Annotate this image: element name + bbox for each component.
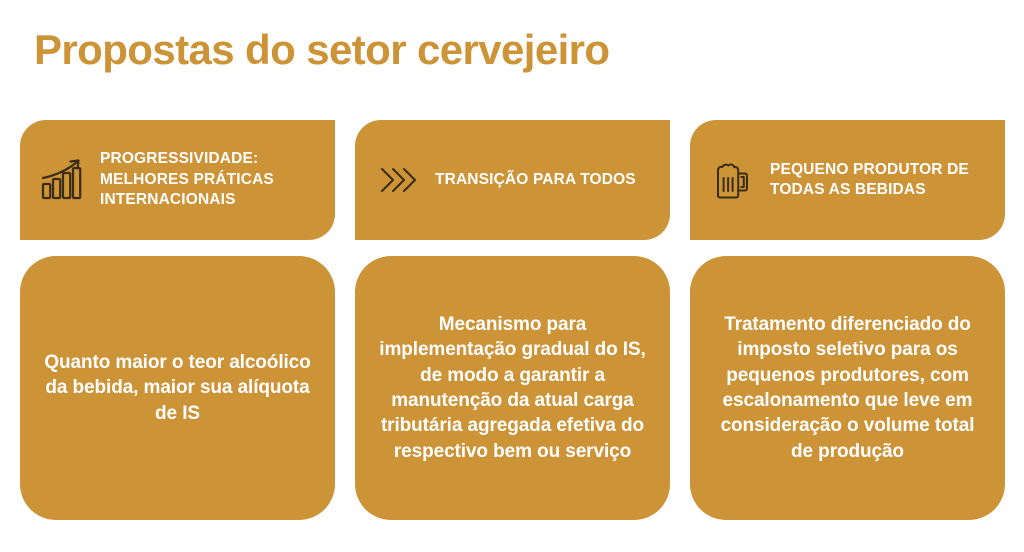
proposal-body-card-1[interactable]: Quanto maior o teor alcoólico da bebida,…	[20, 256, 335, 520]
proposal-body-card-2[interactable]: Mecanismo para implementação gradual do …	[355, 256, 670, 520]
proposal-column-2: TRANSIÇÃO PARA TODOS Mecanismo para impl…	[355, 120, 670, 520]
bar-chart-growth-icon	[38, 156, 86, 204]
proposal-header-label-3: PEQUENO PRODUTOR DE TODAS AS BEBIDAS	[770, 160, 991, 201]
proposal-header-card-2[interactable]: TRANSIÇÃO PARA TODOS	[355, 120, 670, 240]
proposal-header-label-1: PROGRESSIVIDADE: MELHORES PRÁTICAS INTER…	[100, 149, 321, 210]
proposal-body-text-2: Mecanismo para implementação gradual do …	[375, 312, 650, 465]
proposal-header-card-1[interactable]: PROGRESSIVIDADE: MELHORES PRÁTICAS INTER…	[20, 120, 335, 240]
proposal-body-text-1: Quanto maior o teor alcoólico da bebida,…	[40, 350, 315, 426]
proposals-columns: PROGRESSIVIDADE: MELHORES PRÁTICAS INTER…	[20, 120, 1005, 520]
proposal-header-label-2: TRANSIÇÃO PARA TODOS	[435, 170, 636, 190]
triple-chevron-right-icon	[373, 156, 421, 204]
beer-mug-icon	[708, 156, 756, 204]
proposal-body-text-3: Tratamento diferenciado do imposto selet…	[710, 312, 985, 465]
proposal-body-card-3[interactable]: Tratamento diferenciado do imposto selet…	[690, 256, 1005, 520]
proposal-column-1: PROGRESSIVIDADE: MELHORES PRÁTICAS INTER…	[20, 120, 335, 520]
proposal-column-3: PEQUENO PRODUTOR DE TODAS AS BEBIDAS Tra…	[690, 120, 1005, 520]
proposal-header-card-3[interactable]: PEQUENO PRODUTOR DE TODAS AS BEBIDAS	[690, 120, 1005, 240]
page-title: Propostas do setor cervejeiro	[34, 26, 609, 73]
slide-canvas: Propostas do setor cervejeiro PROGRESSIV…	[0, 0, 1024, 552]
